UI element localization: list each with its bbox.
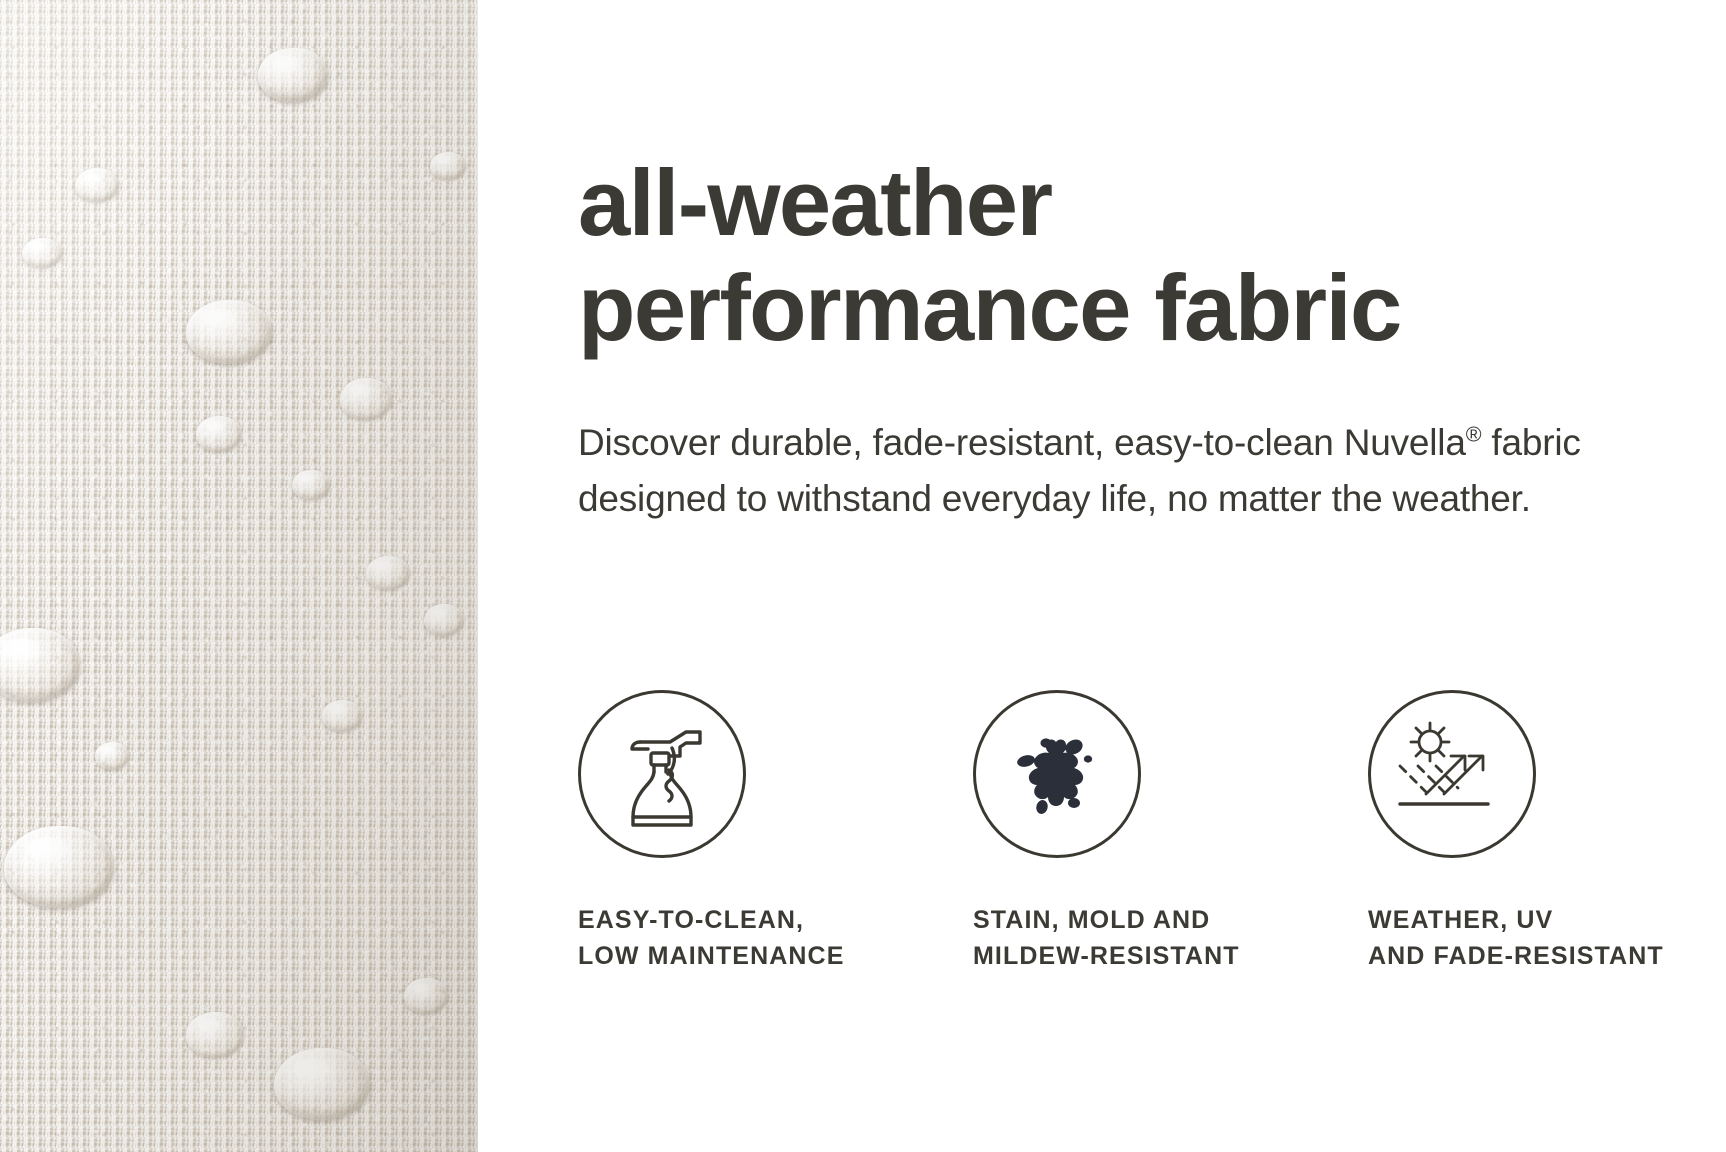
feature-item-easy-to-clean: EASY-TO-CLEAN, LOW MAINTENANCE xyxy=(578,690,973,975)
stain-splat-icon xyxy=(1004,721,1110,827)
sun-uv-reflect-icon xyxy=(1396,720,1508,828)
spray-bottle-icon xyxy=(610,718,714,830)
feature-icon-circle xyxy=(1368,690,1536,858)
all-weather-fabric-banner: all-weather performance fabric Discover … xyxy=(0,0,1726,1152)
registered-trademark-mark: ® xyxy=(1466,423,1482,447)
page-title: all-weather performance fabric xyxy=(578,150,1698,361)
fabric-photo-panel xyxy=(0,0,478,1152)
fabric-shading-overlay xyxy=(0,0,478,1152)
feature-label: WEATHER, UV AND FADE-RESISTANT xyxy=(1368,902,1664,975)
content-panel: all-weather performance fabric Discover … xyxy=(478,0,1726,1152)
feature-item-stain-resistant: STAIN, MOLD AND MILDEW-RESISTANT xyxy=(973,690,1368,975)
subcopy-text-before: Discover durable, fade-resistant, easy-t… xyxy=(578,422,1466,463)
subheading-copy: Discover durable, fade-resistant, easy-t… xyxy=(578,415,1638,527)
feature-label: EASY-TO-CLEAN, LOW MAINTENANCE xyxy=(578,902,844,975)
feature-icon-circle xyxy=(973,690,1141,858)
feature-icon-circle xyxy=(578,690,746,858)
feature-item-weather-uv-resistant: WEATHER, UV AND FADE-RESISTANT xyxy=(1368,690,1726,975)
feature-label: STAIN, MOLD AND MILDEW-RESISTANT xyxy=(973,902,1240,975)
feature-list: EASY-TO-CLEAN, LOW MAINTENANCE xyxy=(578,690,1726,975)
